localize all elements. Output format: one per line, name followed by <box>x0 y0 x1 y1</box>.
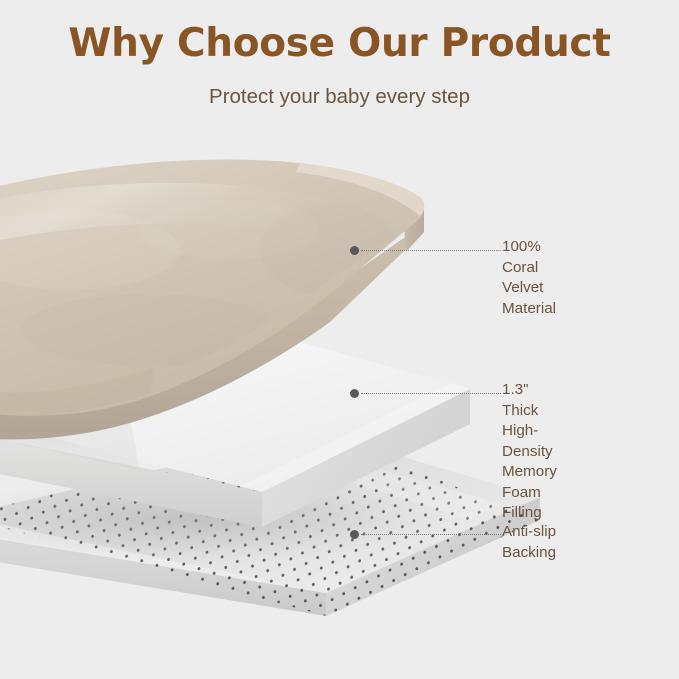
infographic-canvas: Why Choose Our Product Protect your baby… <box>0 0 679 679</box>
callout-marker-foam <box>350 389 359 398</box>
callout-label-foam: 1.3" Thick High-Density Memory Foam Fill… <box>502 380 557 524</box>
page-title: Why Choose Our Product <box>0 0 679 66</box>
header: Why Choose Our Product Protect your baby… <box>0 0 679 109</box>
callout-marker-velvet <box>350 246 359 255</box>
page-subtitle: Protect your baby every step <box>0 66 679 109</box>
callout-leader-backing <box>361 534 501 535</box>
callout-marker-backing <box>350 530 359 539</box>
callout-leader-velvet <box>361 250 501 251</box>
callout-label-backing: Anti-slip Backing <box>502 522 556 563</box>
callout-leader-foam <box>361 393 501 394</box>
callout-label-velvet: 100% Coral Velvet Material <box>502 237 556 319</box>
